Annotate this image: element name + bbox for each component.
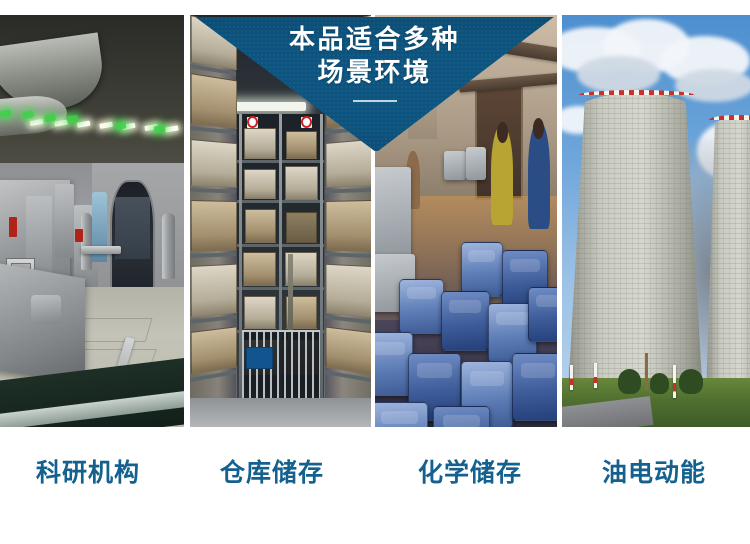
chemical-drum-12 [433, 406, 490, 427]
caption-row: 科研机构 仓库储存 化学储存 油电动能 [0, 455, 750, 501]
roadside-marker-2 [594, 363, 597, 388]
lab-lower-counter [0, 262, 85, 386]
lab-doorway [110, 180, 154, 291]
lab-shelf-rail [81, 246, 121, 254]
panel-research-institution[interactable] [0, 15, 184, 427]
caption-warehouse-storage: 仓库储存 [180, 455, 364, 491]
cloud-5 [675, 69, 750, 102]
roadside-marker-1 [570, 365, 573, 390]
panel-oil-electric-power[interactable] [562, 15, 750, 427]
caption-oil-electric-power: 油电动能 [562, 455, 746, 491]
no-entry-sign-left [247, 117, 258, 128]
chemical-pail-b [466, 147, 486, 180]
lab-tool-assembly [31, 295, 60, 324]
utility-pole [645, 353, 648, 390]
chemical-drum-11 [375, 402, 428, 427]
chemical-pail-a [444, 151, 466, 180]
chemical-drum-1 [461, 242, 503, 298]
warehouse-floor [190, 398, 371, 427]
chemical-drum-10 [512, 353, 558, 421]
warehouse-rack-left [190, 15, 236, 427]
warehouse-info-sign [246, 347, 273, 370]
chemical-drum-4 [441, 291, 490, 351]
lab-fire-extinguisher [162, 213, 175, 279]
roadside-marker-3 [673, 365, 676, 398]
caption-chemical-storage: 化学储存 [378, 455, 562, 491]
warehouse-rack-right [325, 15, 371, 427]
bush-1 [618, 369, 641, 394]
lab-instrument-b [55, 184, 73, 258]
worker-b-head [533, 118, 544, 139]
worker-a-head [497, 122, 508, 143]
cooling-tower-image [562, 15, 750, 427]
lab-emergency-button [9, 217, 16, 238]
cooling-tower-main-rim [579, 90, 694, 95]
chemical-storage-image [375, 15, 557, 427]
chemical-drum-3 [399, 279, 445, 335]
chemical-cabinet [375, 167, 411, 258]
panel-chemical-storage[interactable] [375, 15, 557, 427]
chemical-drum-6 [528, 287, 557, 343]
image-strip [0, 15, 750, 427]
bush-3 [679, 369, 703, 394]
cloud-3 [577, 56, 660, 93]
lab-valve-handle [75, 229, 82, 241]
bush-2 [650, 373, 669, 394]
warehouse-aisle-image [190, 15, 371, 427]
caption-research-institution: 科研机构 [0, 455, 180, 491]
panel-warehouse-storage[interactable] [190, 15, 371, 427]
promo-banner-page: 本品适合多种 场景环境 科研机构 仓库储存 化学储存 油电动能 [0, 0, 750, 544]
no-entry-sign-right [301, 117, 312, 128]
laboratory-interior-image [0, 15, 184, 427]
